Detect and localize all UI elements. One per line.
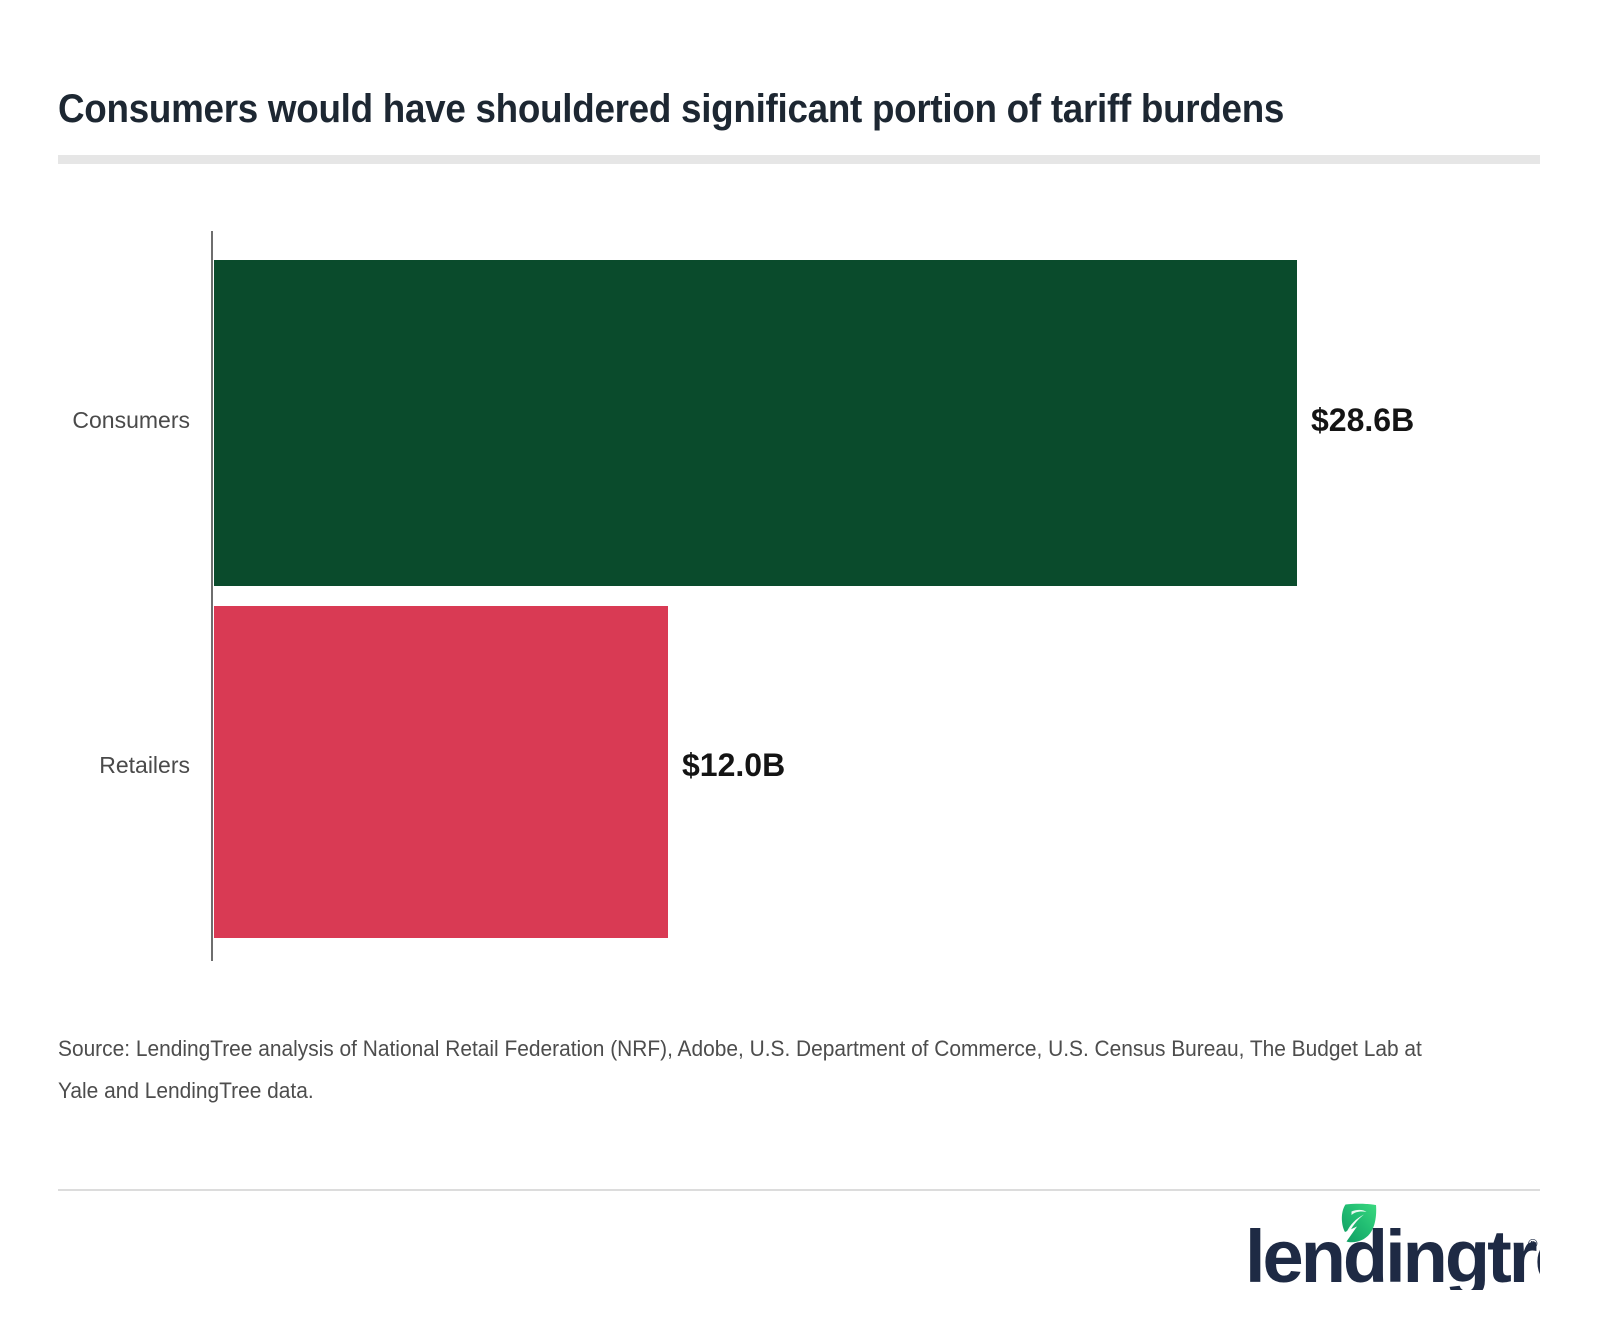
source-note: Source: LendingTree analysis of National…: [58, 1028, 1455, 1112]
bar-chart: Consumers Retailers $28.6B $12.0B: [0, 0, 1600, 1334]
logo-registered-mark: ®: [1528, 1236, 1538, 1251]
chart-page: Consumers would have shouldered signific…: [0, 0, 1600, 1334]
bar-retailers[interactable]: [214, 606, 668, 938]
lendingtree-logo[interactable]: lendingtree ®: [1245, 1200, 1540, 1290]
footer-divider: [58, 1189, 1540, 1191]
bar-consumers[interactable]: [214, 260, 1297, 586]
logo-svg: lendingtree ®: [1245, 1200, 1540, 1290]
logo-wordmark: lendingtree: [1245, 1215, 1540, 1290]
category-label-retailers: Retailers: [30, 752, 190, 779]
value-label-retailers: $12.0B: [682, 747, 785, 784]
y-axis-line: [211, 231, 213, 961]
value-label-consumers: $28.6B: [1311, 402, 1414, 439]
category-label-consumers: Consumers: [30, 407, 190, 434]
